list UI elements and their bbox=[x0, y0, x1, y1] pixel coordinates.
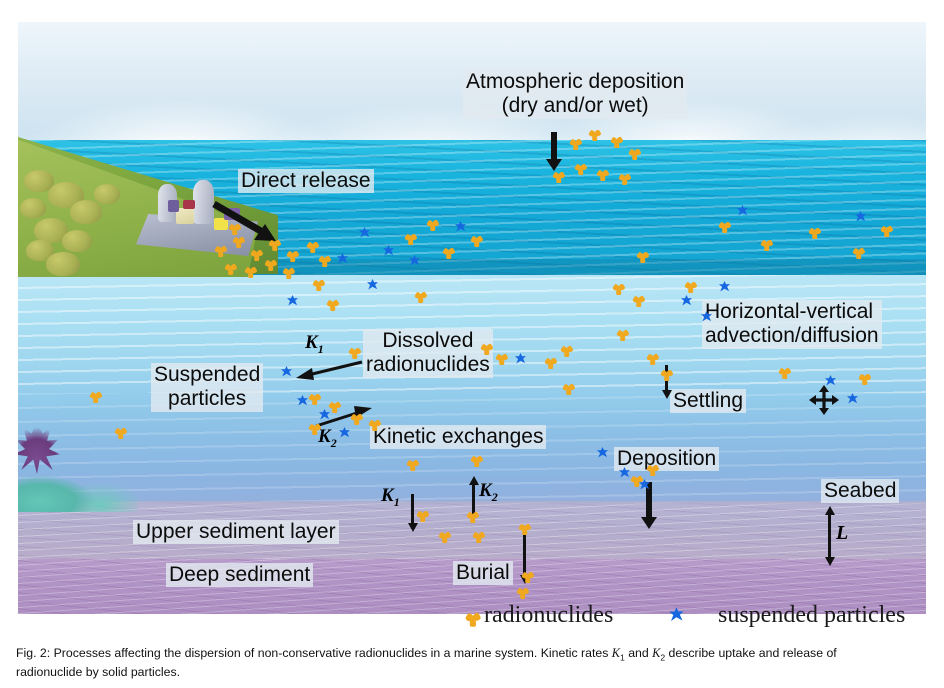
radionuclide-symbol bbox=[308, 392, 321, 405]
radionuclide-symbol bbox=[406, 458, 419, 471]
label-burial: Burial bbox=[453, 561, 513, 585]
suspended-particle-symbol bbox=[596, 446, 609, 459]
radionuclide-symbol bbox=[684, 280, 697, 293]
radionuclide-symbol bbox=[470, 234, 483, 247]
radionuclide-symbol bbox=[306, 240, 319, 253]
direct-release-arrow bbox=[210, 200, 296, 250]
label-kinetic-exchanges: Kinetic exchanges bbox=[370, 425, 546, 449]
suspended-particle-symbol bbox=[454, 220, 467, 233]
k1-water-label: K1 bbox=[305, 332, 324, 357]
k1-water-arrow bbox=[288, 358, 368, 384]
radionuclide-symbol bbox=[89, 390, 102, 403]
legend-radionuclide-icon bbox=[462, 608, 483, 629]
suspended-particle-symbol bbox=[718, 280, 731, 293]
radionuclide-symbol bbox=[552, 170, 565, 183]
radionuclide-symbol bbox=[660, 368, 673, 381]
shrub-icon bbox=[46, 252, 80, 276]
radionuclide-symbol bbox=[250, 248, 263, 261]
suspended-particle-symbol bbox=[736, 204, 749, 217]
atmospheric-deposition-line2: (dry and/or wet) bbox=[466, 94, 684, 118]
radionuclide-symbol bbox=[228, 222, 241, 235]
dissolved-radionuclides-line2: radionuclides bbox=[366, 353, 490, 377]
k1-sediment-label: K1 bbox=[381, 485, 400, 510]
caption-text-part2: and bbox=[625, 646, 652, 660]
suspended-particle-symbol bbox=[854, 210, 867, 223]
radionuclide-symbol bbox=[268, 238, 281, 251]
legend-particle-icon bbox=[668, 606, 685, 623]
marine-radionuclide-diagram: Atmospheric deposition (dry and/or wet) … bbox=[18, 22, 926, 614]
suspended-particles-line2: particles bbox=[154, 387, 260, 411]
suspended-particle-symbol bbox=[638, 478, 651, 491]
suspended-particle-symbol bbox=[618, 466, 631, 479]
label-atmospheric-deposition: Atmospheric deposition (dry and/or wet) bbox=[463, 70, 687, 119]
radionuclide-symbol bbox=[858, 372, 871, 385]
radionuclide-symbol bbox=[588, 128, 601, 141]
radionuclide-symbol bbox=[214, 244, 227, 257]
radionuclide-symbol bbox=[778, 366, 791, 379]
label-direct-release: Direct release bbox=[238, 169, 374, 193]
radionuclide-symbol bbox=[350, 412, 363, 425]
shrub-icon bbox=[62, 230, 92, 252]
radionuclide-symbol bbox=[416, 509, 429, 522]
suspended-particle-symbol bbox=[846, 392, 859, 405]
radionuclide-symbol bbox=[348, 346, 361, 359]
legend-label-radionuclides: radionuclides bbox=[484, 602, 613, 629]
figure-page: Atmospheric deposition (dry and/or wet) … bbox=[0, 0, 944, 688]
radionuclide-symbol bbox=[516, 586, 529, 599]
suspended-particle-symbol bbox=[336, 252, 349, 265]
suspended-particles-line1: Suspended bbox=[154, 363, 260, 387]
radionuclide-symbol bbox=[308, 422, 321, 435]
label-horizontal-vertical-advection: Horizontal-vertical advection/diffusion bbox=[702, 300, 882, 349]
radionuclide-symbol bbox=[628, 147, 641, 160]
radionuclide-symbol bbox=[404, 232, 417, 245]
suspended-particle-symbol bbox=[296, 394, 309, 407]
caption-k1: K bbox=[612, 646, 620, 660]
radionuclide-symbol bbox=[562, 382, 575, 395]
suspended-particle-symbol bbox=[700, 310, 713, 323]
radionuclide-symbol bbox=[326, 298, 339, 311]
k1-sediment-arrow-down bbox=[411, 494, 414, 524]
label-deep-sediment: Deep sediment bbox=[166, 563, 313, 587]
seagrass-icon bbox=[18, 460, 138, 512]
radionuclide-symbol bbox=[808, 226, 821, 239]
label-suspended-particles: Suspended particles bbox=[151, 363, 263, 412]
suspended-particle-symbol bbox=[408, 254, 421, 267]
radionuclide-symbol bbox=[232, 235, 245, 248]
radionuclide-symbol bbox=[312, 278, 325, 291]
radionuclide-symbol bbox=[282, 266, 295, 279]
plant-building-purple bbox=[168, 200, 179, 212]
radionuclide-symbol bbox=[646, 463, 659, 476]
k2-sediment-label: K2 bbox=[479, 480, 498, 505]
suspended-particle-symbol bbox=[286, 294, 299, 307]
sediment-thickness-label: L bbox=[836, 522, 848, 545]
radionuclide-symbol bbox=[414, 290, 427, 303]
legend-label-suspended-particles: suspended particles bbox=[718, 602, 905, 629]
suspended-particle-symbol bbox=[280, 365, 293, 378]
suspended-particle-symbol bbox=[824, 374, 837, 387]
radionuclide-symbol bbox=[852, 246, 865, 259]
label-settling: Settling bbox=[670, 389, 746, 413]
suspended-particle-symbol bbox=[358, 226, 371, 239]
radionuclide-symbol bbox=[318, 254, 331, 267]
figure-caption: Fig. 2: Processes affecting the dispersi… bbox=[16, 645, 880, 681]
caption-text-part1: Processes affecting the dispersion of no… bbox=[50, 646, 612, 660]
suspended-particle-symbol bbox=[514, 352, 527, 365]
plant-building-red bbox=[183, 200, 195, 209]
radionuclide-symbol bbox=[286, 249, 299, 262]
shrub-icon bbox=[70, 200, 102, 224]
radionuclide-symbol bbox=[560, 344, 573, 357]
suspended-particle-symbol bbox=[338, 426, 351, 439]
radionuclide-symbol bbox=[574, 162, 587, 175]
radionuclide-symbol bbox=[442, 246, 455, 259]
radionuclide-symbol bbox=[880, 224, 893, 237]
suspended-particle-symbol bbox=[382, 244, 395, 257]
figure-legend: radionuclides suspended particles bbox=[18, 600, 926, 632]
radionuclide-symbol bbox=[438, 530, 451, 543]
radionuclide-symbol bbox=[632, 294, 645, 307]
suspended-particle-symbol bbox=[366, 278, 379, 291]
radionuclide-symbol bbox=[596, 168, 609, 181]
radionuclide-symbol bbox=[426, 218, 439, 231]
radionuclide-symbol bbox=[368, 418, 381, 431]
label-upper-sediment-layer: Upper sediment layer bbox=[133, 520, 339, 544]
four-way-arrow-icon bbox=[808, 384, 840, 416]
radionuclide-symbol bbox=[521, 570, 534, 583]
advection-line2: advection/diffusion bbox=[705, 324, 879, 348]
radionuclide-symbol bbox=[612, 282, 625, 295]
radionuclide-symbol bbox=[114, 426, 127, 439]
radionuclide-symbol bbox=[244, 265, 257, 278]
advection-line1: Horizontal-vertical bbox=[705, 300, 879, 324]
suspended-particle-symbol bbox=[680, 294, 693, 307]
radionuclide-symbol bbox=[569, 137, 582, 150]
radionuclide-symbol bbox=[480, 342, 493, 355]
shrub-icon bbox=[94, 184, 120, 204]
radionuclide-symbol bbox=[760, 238, 773, 251]
radionuclide-symbol bbox=[718, 220, 731, 233]
radionuclide-symbol bbox=[636, 250, 649, 263]
dissolved-radionuclides-line1: Dissolved bbox=[366, 329, 490, 353]
radionuclide-symbol bbox=[646, 352, 659, 365]
atmospheric-deposition-arrow bbox=[551, 132, 557, 160]
radionuclide-symbol bbox=[472, 530, 485, 543]
label-seabed: Seabed bbox=[821, 479, 899, 503]
label-dissolved-radionuclides: Dissolved radionuclides bbox=[363, 329, 493, 378]
radionuclide-symbol bbox=[610, 135, 623, 148]
radionuclide-symbol bbox=[466, 510, 479, 523]
atmospheric-deposition-line1: Atmospheric deposition bbox=[466, 70, 684, 94]
suspended-particle-symbol bbox=[318, 408, 331, 421]
sediment-thickness-arrow bbox=[828, 514, 831, 558]
radionuclide-symbol bbox=[264, 258, 277, 271]
radionuclide-symbol bbox=[495, 352, 508, 365]
radionuclide-symbol bbox=[518, 522, 531, 535]
radionuclide-symbol bbox=[616, 328, 629, 341]
radionuclide-symbol bbox=[224, 262, 237, 275]
caption-figure-number: Fig. 2: bbox=[16, 646, 50, 660]
radionuclide-symbol bbox=[470, 454, 483, 467]
radionuclide-symbol bbox=[618, 172, 631, 185]
shrub-icon bbox=[20, 198, 46, 218]
radionuclide-symbol bbox=[544, 356, 557, 369]
